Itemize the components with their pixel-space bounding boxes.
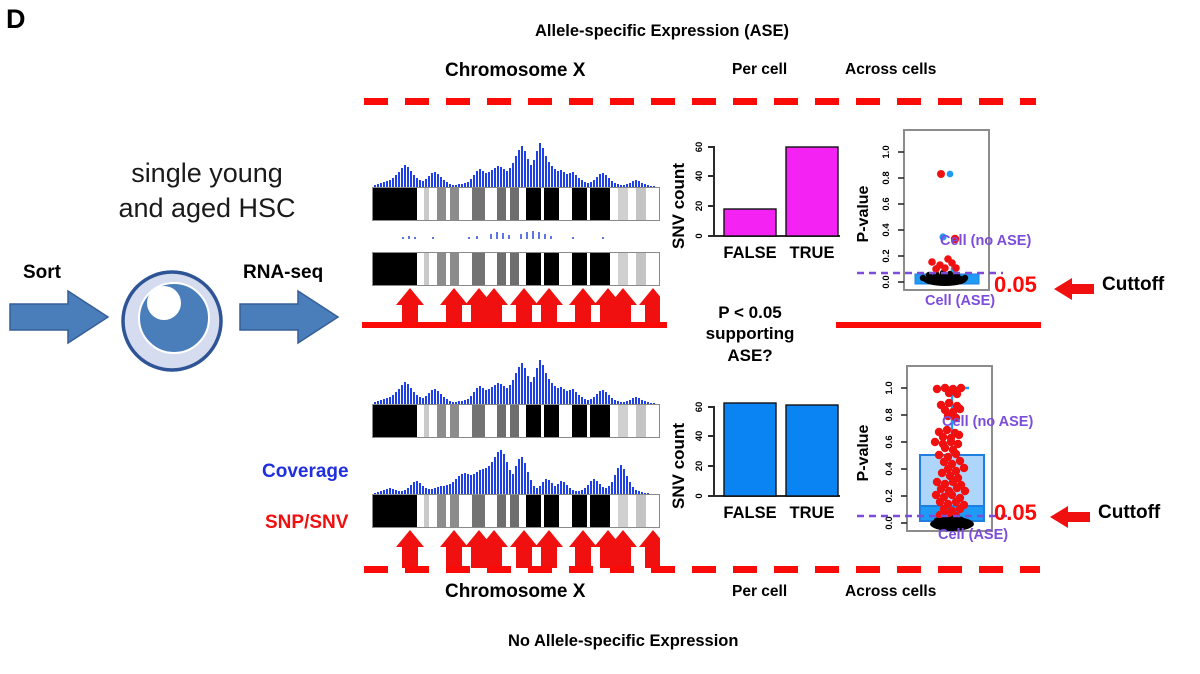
- bar-chart-ylabel: SNV count: [669, 423, 688, 509]
- ase-section-title: Allele-specific Expression (ASE): [535, 22, 789, 41]
- chromosome-ideogram: [372, 187, 660, 221]
- cutoff-label-bottom: Cuttoff: [1098, 502, 1160, 524]
- bar-chart-ase: SNV count 0 20 40 60 FALSE TRUE: [668, 136, 843, 271]
- bar-xtick-true: TRUE: [790, 244, 835, 262]
- snp-snv-track-label: SNP/SNV: [265, 512, 348, 534]
- svg-text:0.0: 0.0: [884, 516, 895, 529]
- sample-description: single young and aged HSC: [62, 156, 352, 225]
- svg-text:0.6: 0.6: [881, 197, 892, 210]
- svg-text:0.6: 0.6: [884, 435, 895, 448]
- cell-icon: [118, 265, 226, 378]
- across-cells-label-bottom: Across cells: [845, 583, 936, 601]
- solid-divider-right: [836, 322, 1041, 328]
- bar-xtick-false: FALSE: [723, 244, 776, 262]
- scatter-ylabel: P-value: [857, 185, 872, 242]
- cutoff-label-top: Cuttoff: [1102, 274, 1164, 296]
- svg-text:0.2: 0.2: [884, 489, 895, 502]
- svg-text:0.8: 0.8: [881, 171, 892, 184]
- coverage-track-label: Coverage: [262, 461, 349, 483]
- panel-letter: D: [6, 4, 26, 35]
- no-ase-section-title: No Allele-specific Expression: [508, 632, 738, 651]
- chromosome-track-ase-allele-a: [372, 141, 660, 239]
- scatter-ylabel: P-value: [857, 424, 872, 481]
- dashed-divider-bottom: [364, 566, 1040, 573]
- solid-divider-left: [362, 322, 667, 328]
- rnaseq-label: RNA-seq: [243, 262, 323, 284]
- center-question: P < 0.05 supporting ASE?: [675, 302, 825, 366]
- chromosome-label-top: Chromosome X: [445, 60, 585, 82]
- svg-text:0.8: 0.8: [884, 408, 895, 421]
- dashed-divider-top: [364, 98, 1036, 105]
- per-cell-label-top: Per cell: [732, 61, 787, 79]
- rnaseq-arrow-icon: [238, 288, 340, 351]
- across-cells-label-top: Across cells: [845, 61, 936, 79]
- snv-arrows-icon: [372, 528, 660, 568]
- center-question-line-1: P < 0.05: [675, 302, 825, 323]
- svg-text:0: 0: [694, 233, 705, 238]
- bar-chart-no-ase: SNV count 0 20 40 60 FALSE TRUE: [668, 396, 843, 531]
- bar-false: [724, 209, 776, 236]
- chromosome-track-noase-allele-b: [372, 448, 660, 568]
- coverage-histogram-icon: [372, 448, 660, 494]
- sort-label: Sort: [23, 262, 61, 284]
- svg-text:0: 0: [694, 493, 705, 498]
- bar-xtick-true: TRUE: [790, 504, 835, 522]
- bar-false: [724, 403, 776, 496]
- bar-true: [786, 147, 838, 236]
- bar-xtick-false: FALSE: [723, 504, 776, 522]
- cutoff-arrow-icon-top: [1052, 276, 1096, 307]
- cell-no-ase-tag-bottom: Cell (no ASE): [942, 414, 1033, 430]
- cell-ase-tag-top: Cell (ASE): [925, 293, 995, 309]
- cutoff-arrow-icon-bottom: [1048, 504, 1092, 535]
- cutoff-value-bottom: 0.05: [994, 500, 1037, 526]
- svg-text:20: 20: [694, 201, 705, 212]
- svg-text:40: 40: [694, 431, 705, 442]
- chromosome-ideogram: [372, 404, 660, 438]
- svg-text:1.0: 1.0: [881, 145, 892, 158]
- bar-true: [786, 405, 838, 496]
- svg-text:40: 40: [694, 171, 705, 182]
- cell-ase-tag-bottom: Cell (ASE): [938, 527, 1008, 543]
- center-question-line-3: ASE?: [675, 345, 825, 366]
- chromosome-ideogram: [372, 252, 660, 286]
- sort-arrow-icon: [8, 288, 110, 351]
- sample-line-1: single young: [62, 156, 352, 191]
- cutoff-value-top: 0.05: [994, 272, 1037, 298]
- svg-text:60: 60: [694, 142, 705, 153]
- coverage-histogram-icon: [372, 141, 660, 187]
- svg-text:60: 60: [694, 402, 705, 413]
- chromosome-track-noase-allele-a: [372, 358, 660, 438]
- svg-text:20: 20: [694, 461, 705, 472]
- svg-text:0.0: 0.0: [881, 275, 892, 288]
- snv-arrows-icon: [372, 286, 660, 326]
- sample-line-2: and aged HSC: [62, 191, 352, 226]
- cell-no-ase-tag-top: Cell (no ASE): [940, 233, 1031, 249]
- chromosome-ideogram: [372, 494, 660, 528]
- bar-chart-ylabel: SNV count: [669, 163, 688, 249]
- center-question-line-2: supporting: [675, 323, 825, 344]
- chromosome-label-bottom: Chromosome X: [445, 581, 585, 603]
- per-cell-label-bottom: Per cell: [732, 583, 787, 601]
- chromosome-track-ase-allele-b: [372, 252, 660, 326]
- svg-text:0.2: 0.2: [881, 249, 892, 262]
- coverage-histogram-icon: [372, 358, 660, 404]
- svg-text:0.4: 0.4: [884, 462, 895, 476]
- coverage-histogram-low-icon: [372, 221, 660, 239]
- svg-text:1.0: 1.0: [884, 381, 895, 394]
- svg-text:0.4: 0.4: [881, 223, 892, 237]
